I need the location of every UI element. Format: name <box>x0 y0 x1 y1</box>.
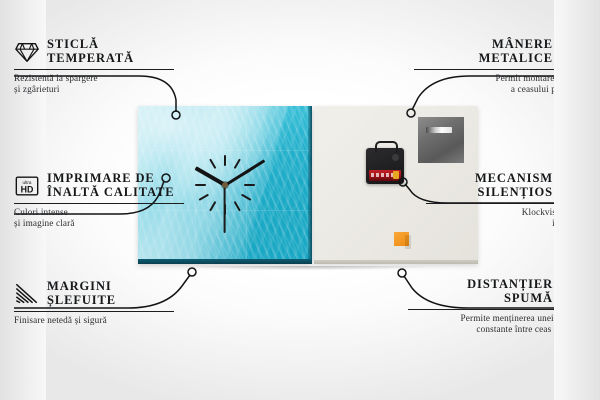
callout-subtitle: Klockvisare som inte låter <box>426 207 586 230</box>
callout-foam-spacer: DISTANȚIER SPUMĂ Permite menținerea unei… <box>408 278 586 336</box>
quartz-movement <box>366 148 404 184</box>
hanger-slot <box>426 127 452 133</box>
battery-terminal <box>393 171 399 179</box>
glass-bottom-edge <box>138 259 312 264</box>
callout-subtitle: Finisare netedă și sigură <box>14 315 179 326</box>
hand-cap <box>222 182 228 188</box>
battery-label <box>371 173 393 177</box>
callout-rule <box>14 69 174 70</box>
ultra-hd-icon: ultra HD <box>14 174 40 198</box>
metal-hanger-plate <box>418 117 464 163</box>
callout-header: MECANISM SILENȚIOS <box>426 172 586 199</box>
callout-title: MECANISM SILENȚIOS <box>475 172 553 199</box>
callout-title: IMPRIMARE DE ÎNALTĂ CALITATE <box>47 172 175 199</box>
callout-rule <box>14 311 174 312</box>
bevel-lines-icon <box>14 282 40 306</box>
callout-subtitle: Permite menținerea unei distanțe constan… <box>408 313 586 336</box>
callout-title: MARGINI ȘLEFUITE <box>47 280 116 307</box>
callout-silent-mechanism: MECANISM SILENȚIOS Klockvisare som inte … <box>426 172 586 230</box>
callout-header: ultra HD IMPRIMARE DE ÎNALTĂ CALITATE <box>14 172 189 199</box>
callout-rule <box>408 309 586 310</box>
callout-polished-edges: MARGINI ȘLEFUITE Finisare netedă și sigu… <box>14 280 179 326</box>
svg-text:HD: HD <box>21 184 34 194</box>
foam-spacer-shadow <box>405 235 411 249</box>
callout-subtitle: Permit montarea ușoară a ceasului pe per… <box>414 73 586 96</box>
infographic-canvas: STICLĂ TEMPERATĂ Rezistentă la spargere … <box>0 0 600 400</box>
framed-picture-icon <box>560 40 586 64</box>
callout-high-quality-print: ultra HD IMPRIMARE DE ÎNALTĂ CALITATE Cu… <box>14 172 189 230</box>
callout-subtitle: Rezistentă la spargere și zgârieturi <box>14 73 179 96</box>
foam-spacer <box>394 232 409 246</box>
callout-header: MARGINI ȘLEFUITE <box>14 280 179 307</box>
product-shadow <box>132 266 488 278</box>
diamond-icon <box>14 40 40 64</box>
callout-title: STICLĂ TEMPERATĂ <box>47 38 134 65</box>
callout-header: MÂNERE METALICE <box>414 38 586 65</box>
callout-metal-handles: MÂNERE METALICE Permit montarea ușoară a… <box>414 38 586 96</box>
glass-side-edge <box>308 106 312 264</box>
callout-title: MÂNERE METALICE <box>479 38 553 65</box>
callout-rule <box>426 203 586 204</box>
back-bottom-edge <box>314 260 478 264</box>
hanger-loop <box>375 141 398 153</box>
callout-rule <box>414 69 586 70</box>
gear-icon <box>560 174 586 198</box>
battery <box>369 170 401 181</box>
callout-subtitle: Culori intense și imagine clară <box>14 207 189 230</box>
callout-rule <box>14 203 184 204</box>
second-hand <box>224 185 226 233</box>
movement-shaft <box>392 154 399 161</box>
callout-header: DISTANȚIER SPUMĂ <box>408 278 586 305</box>
callout-tempered-glass: STICLĂ TEMPERATĂ Rezistentă la spargere … <box>14 38 179 96</box>
callout-title: DISTANȚIER SPUMĂ <box>467 278 553 305</box>
arrow-onto-pad-icon <box>560 280 586 304</box>
callout-header: STICLĂ TEMPERATĂ <box>14 38 179 65</box>
